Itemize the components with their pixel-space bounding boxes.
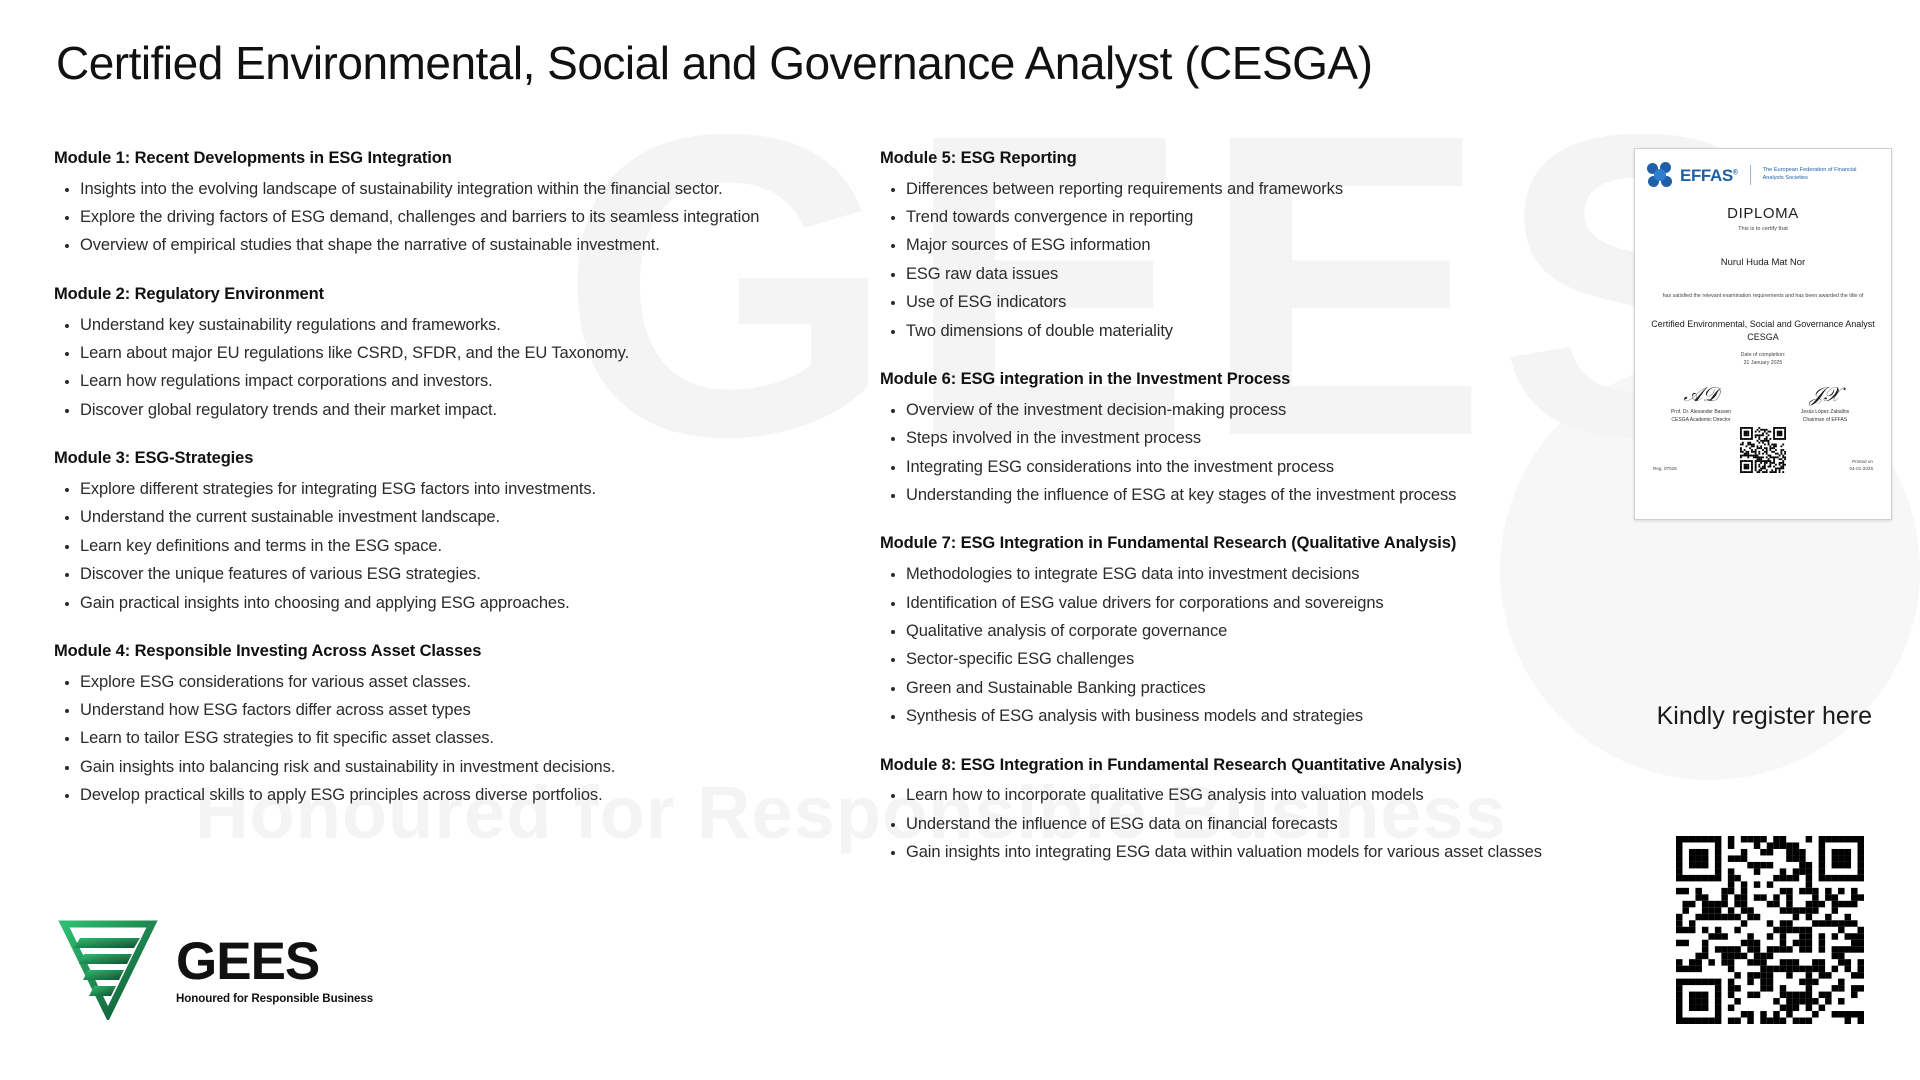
module-bullet-item: Learn about major EU regulations like CS… <box>80 342 874 365</box>
gees-diamond-icon <box>54 916 162 1020</box>
module-bullet-list: Methodologies to integrate ESG data into… <box>880 563 1620 729</box>
module-title: Module 4: Responsible Investing Across A… <box>54 641 874 662</box>
module-bullet-item: Understand how ESG factors differ across… <box>80 699 874 722</box>
effas-wordmark: EFFAS® <box>1680 167 1738 184</box>
module-bullet-item: Develop practical skills to apply ESG pr… <box>80 784 874 807</box>
module-block: Module 8: ESG Integration in Fundamental… <box>880 755 1620 865</box>
diploma-qr-code <box>1740 427 1786 473</box>
module-bullet-list: Explore different strategies for integra… <box>54 478 874 615</box>
module-bullet-item: Understand the current sustainable inves… <box>80 506 874 529</box>
signatory-role: Chairman of EFFAS <box>1777 417 1873 423</box>
module-bullet-list: Explore ESG considerations for various a… <box>54 671 874 808</box>
diploma-recipient-name: Nurul Huda Mat Nor <box>1647 257 1879 268</box>
module-bullet-item: Sector-specific ESG challenges <box>906 648 1620 671</box>
module-block: Module 7: ESG Integration in Fundamental… <box>880 533 1620 728</box>
module-bullet-item: Discover global regulatory trends and th… <box>80 399 874 422</box>
module-bullet-item: Use of ESG indicators <box>906 291 1620 314</box>
diploma-header: EFFAS® The European Federation of Financ… <box>1647 162 1879 188</box>
diploma-certify-line: This is to certify that <box>1647 226 1879 232</box>
poster-page: GEES Honoured for Responsible Business C… <box>0 0 1920 1080</box>
module-title: Module 2: Regulatory Environment <box>54 284 874 305</box>
module-bullet-list: Insights into the evolving landscape of … <box>54 178 874 258</box>
module-bullet-item: Learn how regulations impact corporation… <box>80 370 874 393</box>
effas-federation-text: The European Federation of Financial Ana… <box>1763 167 1863 182</box>
diploma-satisfied-line: has satisfied the relevant examination r… <box>1647 292 1879 301</box>
module-bullet-item: Steps involved in the investment process <box>906 427 1620 450</box>
module-bullet-item: Identification of ESG value drivers for … <box>906 592 1620 615</box>
diploma-footer: Reg. 07526 Printed on 04-01-2025 <box>1647 427 1879 473</box>
signatory-role: CESGA Academic Director <box>1653 417 1749 423</box>
module-bullet-item: Overview of empirical studies that shape… <box>80 234 874 257</box>
modules-column-right: Module 5: ESG ReportingDifferences betwe… <box>880 148 1620 870</box>
gees-wordmark: GEES <box>176 937 373 987</box>
module-bullet-item: Explore the driving factors of ESG deman… <box>80 206 874 229</box>
module-bullet-item: Green and Sustainable Banking practices <box>906 677 1620 700</box>
module-title: Module 6: ESG integration in the Investm… <box>880 369 1620 390</box>
module-block: Module 5: ESG ReportingDifferences betwe… <box>880 148 1620 343</box>
module-title: Module 5: ESG Reporting <box>880 148 1620 169</box>
module-bullet-item: Trend towards convergence in reporting <box>906 206 1620 229</box>
module-bullet-item: Understand the influence of ESG data on … <box>906 813 1620 836</box>
signatory-name: Jesús López Zaballos <box>1777 409 1873 415</box>
module-bullet-item: Gain practical insights into choosing an… <box>80 592 874 615</box>
registration-qr-code[interactable] <box>1676 836 1864 1024</box>
diploma-signature-block: 𝒥𝒳 Jesús López Zaballos Chairman of EFFA… <box>1777 384 1873 423</box>
module-bullet-list: Overview of the investment decision-maki… <box>880 399 1620 508</box>
gees-logo: GEES Honoured for Responsible Business <box>54 916 373 1020</box>
module-title: Module 8: ESG Integration in Fundamental… <box>880 755 1620 776</box>
register-call-to-action: Kindly register here <box>1622 700 1872 734</box>
module-bullet-list: Learn how to incorporate qualitative ESG… <box>880 784 1620 864</box>
module-bullet-item: Gain insights into balancing risk and su… <box>80 756 874 779</box>
module-bullet-item: Gain insights into integrating ESG data … <box>906 841 1620 864</box>
diploma-signature-block: 𝒜𝒟 Prof. Dr. Alexander Bassen CESGA Acad… <box>1653 384 1749 423</box>
module-bullet-item: Learn how to incorporate qualitative ESG… <box>906 784 1620 807</box>
gees-tagline: Honoured for Responsible Business <box>176 992 373 1005</box>
diploma-heading: DIPLOMA <box>1647 205 1879 222</box>
module-bullet-item: Explore ESG considerations for various a… <box>80 671 874 694</box>
module-block: Module 1: Recent Developments in ESG Int… <box>54 148 874 258</box>
module-block: Module 3: ESG-StrategiesExplore differen… <box>54 448 874 615</box>
module-block: Module 6: ESG integration in the Investm… <box>880 369 1620 507</box>
diploma-award-title: Certified Environmental, Social and Gove… <box>1647 318 1879 344</box>
module-bullet-list: Differences between reporting requiremen… <box>880 178 1620 344</box>
diploma-printed-label: Printed on <box>1852 459 1873 464</box>
signature-icon: 𝒥𝒳 <box>1777 384 1873 406</box>
module-bullet-item: Understanding the influence of ESG at ke… <box>906 484 1620 507</box>
module-block: Module 2: Regulatory EnvironmentUndersta… <box>54 284 874 422</box>
diploma-certificate: EFFAS® The European Federation of Financ… <box>1634 148 1892 520</box>
diploma-date-label: Date of completion: <box>1741 352 1786 358</box>
gees-logo-text: GEES Honoured for Responsible Business <box>176 931 373 1004</box>
module-bullet-item: Learn to tailor ESG strategies to fit sp… <box>80 727 874 750</box>
diploma-date-value: 31 January 2025 <box>1744 360 1783 366</box>
effas-logo-icon <box>1647 162 1673 188</box>
module-bullet-item: Insights into the evolving landscape of … <box>80 178 874 201</box>
effas-divider <box>1750 165 1751 185</box>
diploma-registration-number: Reg. 07526 <box>1653 465 1715 472</box>
page-title: Certified Environmental, Social and Gove… <box>56 36 1372 90</box>
module-bullet-item: Integrating ESG considerations into the … <box>906 456 1620 479</box>
module-bullet-item: Understand key sustainability regulation… <box>80 314 874 337</box>
diploma-printed-value: 04-01-2025 <box>1850 466 1874 471</box>
effas-brand-text: EFFAS <box>1680 166 1733 185</box>
signature-icon: 𝒜𝒟 <box>1653 384 1749 406</box>
module-bullet-item: ESG raw data issues <box>906 263 1620 286</box>
module-bullet-item: Two dimensions of double materiality <box>906 320 1620 343</box>
signatory-name: Prof. Dr. Alexander Bassen <box>1653 409 1749 415</box>
module-bullet-item: Overview of the investment decision-maki… <box>906 399 1620 422</box>
module-bullet-item: Qualitative analysis of corporate govern… <box>906 620 1620 643</box>
module-title: Module 7: ESG Integration in Fundamental… <box>880 533 1620 554</box>
module-bullet-item: Methodologies to integrate ESG data into… <box>906 563 1620 586</box>
module-bullet-list: Understand key sustainability regulation… <box>54 314 874 423</box>
module-bullet-item: Synthesis of ESG analysis with business … <box>906 705 1620 728</box>
effas-registered-mark: ® <box>1733 169 1738 176</box>
module-title: Module 1: Recent Developments in ESG Int… <box>54 148 874 169</box>
module-bullet-item: Discover the unique features of various … <box>80 563 874 586</box>
diploma-completion-date: Date of completion: 31 January 2025 <box>1647 351 1879 368</box>
module-bullet-item: Differences between reporting requiremen… <box>906 178 1620 201</box>
module-title: Module 3: ESG-Strategies <box>54 448 874 469</box>
modules-column-left: Module 1: Recent Developments in ESG Int… <box>54 148 874 813</box>
diploma-printed-on: Printed on 04-01-2025 <box>1811 458 1873 473</box>
module-block: Module 4: Responsible Investing Across A… <box>54 641 874 808</box>
module-bullet-item: Learn key definitions and terms in the E… <box>80 535 874 558</box>
diploma-signature-row: 𝒜𝒟 Prof. Dr. Alexander Bassen CESGA Acad… <box>1647 384 1879 423</box>
module-bullet-item: Major sources of ESG information <box>906 234 1620 257</box>
module-bullet-item: Explore different strategies for integra… <box>80 478 874 501</box>
